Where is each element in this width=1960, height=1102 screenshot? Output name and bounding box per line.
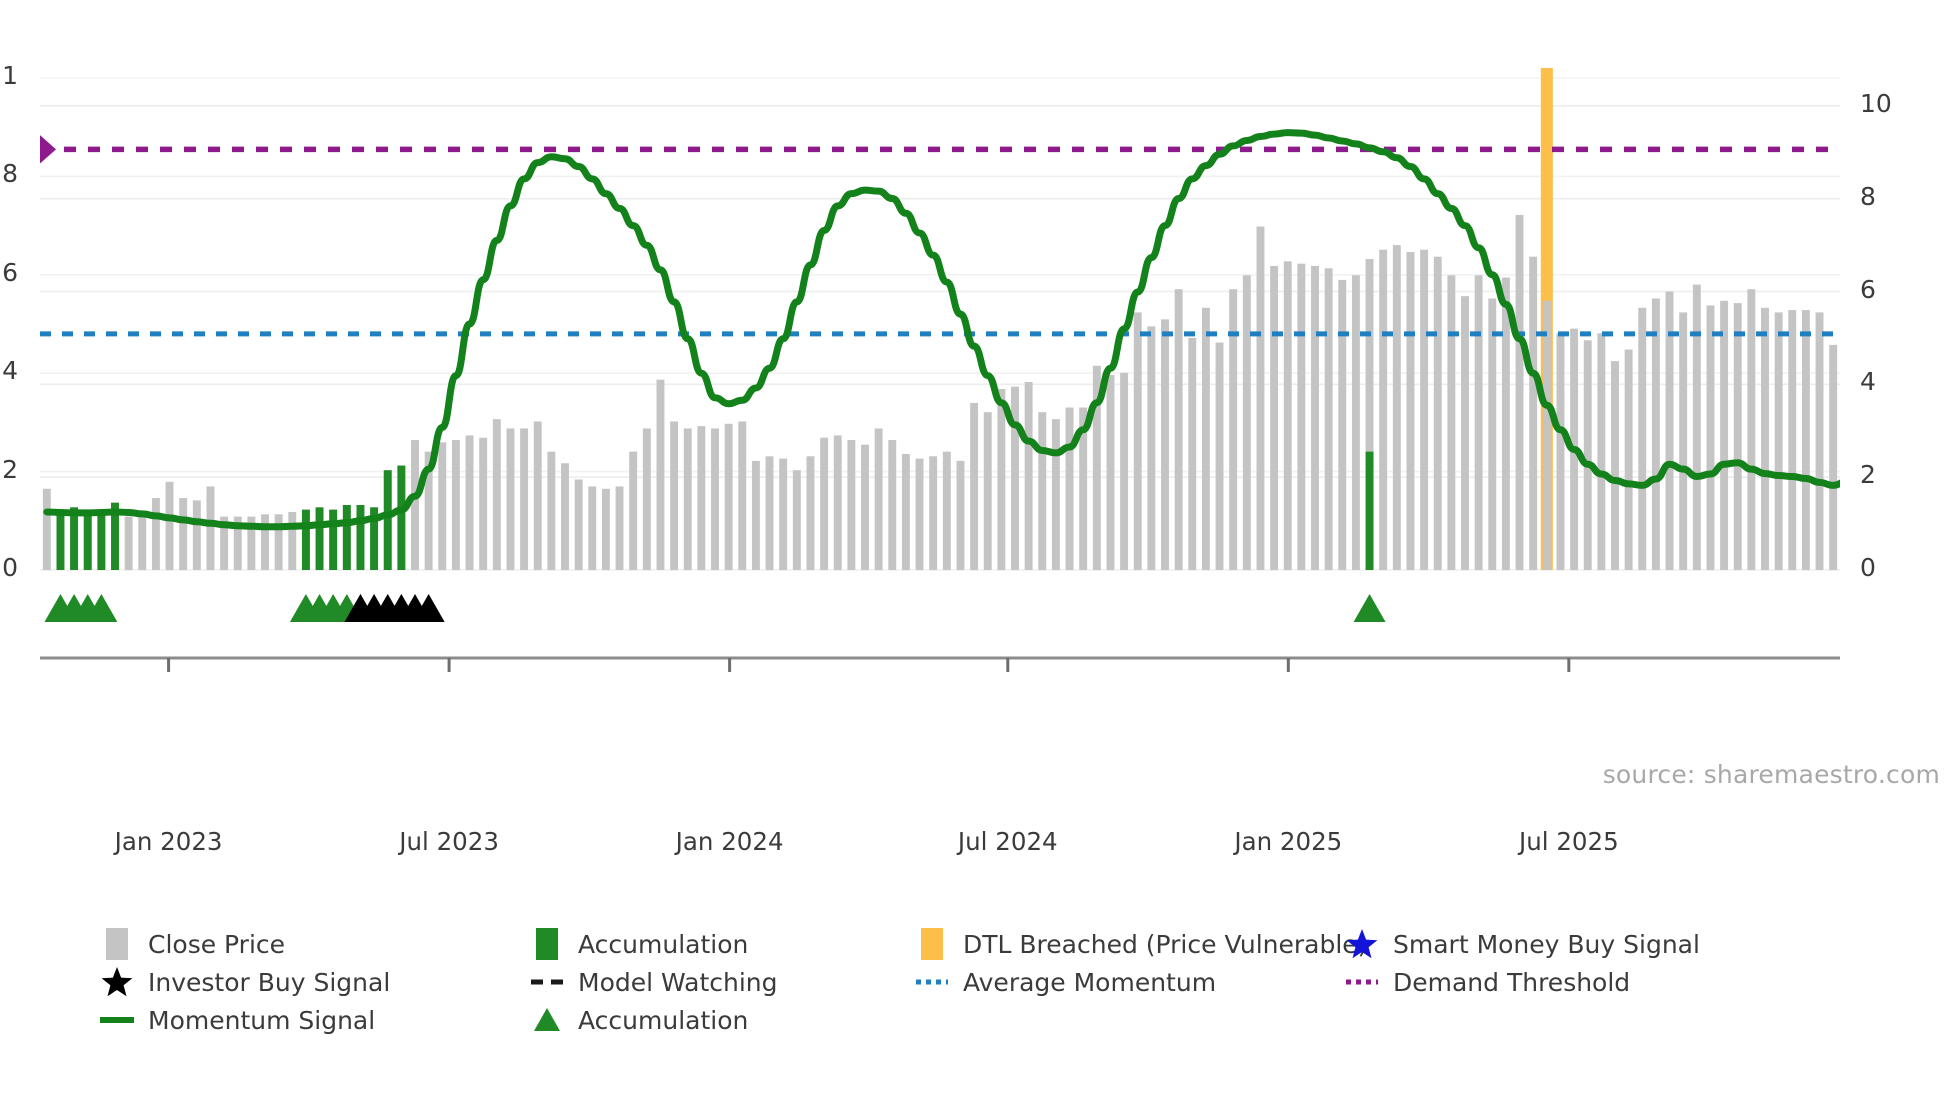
- legend-item-label: Investor Buy Signal: [148, 968, 390, 997]
- legend-item[interactable]: Demand Threshold: [1345, 963, 1775, 1001]
- accumulation-bar: [1366, 452, 1374, 570]
- close-price-bar: [138, 514, 146, 570]
- close-price-bar: [807, 456, 815, 570]
- legend-item[interactable]: DTL Breached (Price Vulnerable): [915, 925, 1345, 963]
- close-price-bar: [1447, 275, 1455, 570]
- close-price-bar: [547, 452, 555, 570]
- square-green-icon-shape: [536, 928, 558, 960]
- close-price-bar: [970, 403, 978, 570]
- close-price-bar: [575, 479, 583, 570]
- close-price-bar: [1147, 326, 1155, 570]
- close-price-bar: [957, 461, 965, 570]
- legend-item[interactable]: Average Momentum: [915, 963, 1345, 1001]
- square-gray-icon-shape: [106, 928, 128, 960]
- legend-item-label: Accumulation: [578, 1006, 748, 1035]
- close-price-bar: [1066, 408, 1074, 570]
- legend-item-label: Model Watching: [578, 968, 778, 997]
- close-price-bar: [1407, 252, 1415, 570]
- legend-item-label: Average Momentum: [963, 968, 1216, 997]
- accumulation-bar: [329, 510, 337, 570]
- dotted-line-blue-icon: [915, 965, 949, 999]
- close-price-bar: [534, 421, 542, 570]
- line-green-icon: [100, 1003, 134, 1037]
- legend-item[interactable]: Close Price: [100, 925, 530, 963]
- close-price-bar: [1788, 310, 1796, 570]
- triangle-green-icon: [530, 1003, 564, 1037]
- plot-area: [40, 60, 1840, 710]
- x-axis-tick-label: Jul 2024: [908, 827, 1108, 856]
- legend-item[interactable]: Investor Buy Signal: [100, 963, 530, 1001]
- close-price-bar: [1379, 250, 1387, 570]
- close-price-bar: [1802, 310, 1810, 570]
- legend-item[interactable]: Momentum Signal: [100, 1001, 530, 1039]
- right-axis-tick-label: 6: [1860, 275, 1920, 304]
- close-price-bar: [1202, 308, 1210, 570]
- star-black-icon: [100, 965, 134, 999]
- close-price-bar: [1420, 250, 1428, 570]
- close-price-bar: [1161, 319, 1169, 570]
- close-price-bar: [861, 445, 869, 570]
- legend-item[interactable]: Model Watching: [530, 963, 915, 1001]
- right-axis-tick-label: 4: [1860, 367, 1920, 396]
- close-price-bar: [997, 389, 1005, 570]
- x-axis-tick-label: Jan 2025: [1188, 827, 1388, 856]
- close-price-bar: [1543, 301, 1551, 570]
- close-price-bar: [507, 428, 515, 570]
- right-axis-tick-label: 2: [1860, 460, 1920, 489]
- close-price-bar: [1529, 257, 1537, 570]
- close-price-bar: [916, 459, 924, 570]
- left-axis-tick-label: 0.2: [0, 455, 18, 484]
- left-axis-tick-label: 0.4: [0, 356, 18, 385]
- close-price-bar: [125, 517, 133, 570]
- close-price-bar: [834, 435, 842, 570]
- signal-marker-row: [44, 594, 1385, 622]
- close-price-bar: [261, 514, 269, 570]
- accumulation-bar: [70, 507, 78, 570]
- diamond-purple-icon: [40, 133, 56, 165]
- dashed-line-black-icon: [530, 965, 564, 999]
- left-axis-tick-label: 0.8: [0, 159, 18, 188]
- accumulation-bar: [343, 505, 351, 570]
- legend-item-label: Smart Money Buy Signal: [1393, 930, 1700, 959]
- x-axis-tick-label: Jul 2025: [1469, 827, 1669, 856]
- close-price-bar: [1597, 333, 1605, 570]
- right-axis-tick-label: 10: [1860, 89, 1920, 118]
- close-price-bar: [847, 440, 855, 570]
- close-price-bar: [275, 514, 283, 570]
- close-price-bar: [1584, 340, 1592, 570]
- x-axis-tick-label: Jan 2024: [630, 827, 830, 856]
- close-price-bar: [1216, 343, 1224, 570]
- left-axis-tick-label: 0.6: [0, 258, 18, 287]
- close-price-bar: [616, 486, 624, 570]
- close-price-bar: [1638, 308, 1646, 570]
- close-price-bar: [670, 421, 678, 570]
- close-price-bar: [793, 470, 801, 570]
- accumulation-bar: [357, 505, 365, 570]
- close-price-bar: [1243, 275, 1251, 570]
- legend-item-label: DTL Breached (Price Vulnerable): [963, 930, 1367, 959]
- close-price-bar: [902, 454, 910, 570]
- close-price-bar: [1134, 312, 1142, 570]
- close-price-bar: [1107, 375, 1115, 570]
- star-blue-icon: [1345, 927, 1379, 961]
- close-price-bar: [1734, 303, 1742, 570]
- close-price-bar: [1625, 350, 1633, 570]
- close-price-bar: [766, 456, 774, 570]
- close-price-bar: [1038, 412, 1046, 570]
- accumulation-bar: [316, 507, 324, 570]
- close-price-bar: [1829, 345, 1837, 570]
- close-price-bar: [1257, 227, 1265, 570]
- close-price-bar: [602, 489, 610, 570]
- close-price-bar: [929, 456, 937, 570]
- dotted-line-purple-icon: [1345, 965, 1379, 999]
- close-price-bar: [779, 459, 787, 570]
- close-price-bar: [288, 512, 296, 570]
- close-price-bar: [1297, 264, 1305, 570]
- close-price-bar: [888, 440, 896, 570]
- accumulation-bar: [57, 512, 65, 570]
- close-price-bar: [1475, 275, 1483, 570]
- close-price-bar: [657, 380, 665, 570]
- close-price-bar: [1761, 308, 1769, 570]
- close-price-bar: [520, 428, 528, 570]
- close-price-bar: [1270, 266, 1278, 570]
- close-price-bar: [684, 428, 692, 570]
- close-price-bar: [1488, 298, 1496, 570]
- triangle-green-icon: [1354, 594, 1386, 622]
- legend-item-label: Momentum Signal: [148, 1006, 375, 1035]
- accumulation-bar: [84, 510, 92, 570]
- close-price-bar: [1188, 338, 1196, 570]
- close-price-bar: [1720, 301, 1728, 570]
- legend-item[interactable]: Smart Money Buy Signal: [1345, 925, 1775, 963]
- close-price-bar: [1816, 312, 1824, 570]
- close-price-bar: [1461, 296, 1469, 570]
- close-price-bar: [1338, 280, 1346, 570]
- square-green-icon: [530, 927, 564, 961]
- close-price-bar: [820, 438, 828, 570]
- x-axis-tick-label: Jan 2023: [69, 827, 269, 856]
- close-price-bar: [43, 489, 51, 570]
- close-price-bar: [1325, 268, 1333, 570]
- close-price-bar: [588, 486, 596, 570]
- close-price-bar: [1652, 298, 1660, 570]
- close-price-bar: [411, 440, 419, 570]
- close-price-bar: [452, 440, 460, 570]
- close-price-bar: [1693, 285, 1701, 570]
- square-orange-icon-shape: [921, 928, 943, 960]
- close-price-bar: [1311, 266, 1319, 570]
- close-price-bar: [561, 463, 569, 570]
- close-price-bar: [1707, 305, 1715, 570]
- legend-item-label: Close Price: [148, 930, 285, 959]
- legend-item[interactable]: Accumulation: [530, 925, 915, 963]
- close-price-bar: [193, 500, 201, 570]
- close-price-bar: [466, 435, 474, 570]
- close-price-bar: [1284, 261, 1292, 570]
- accumulation-bar: [397, 466, 405, 570]
- accumulation-bar: [302, 510, 310, 570]
- close-price-bar: [1352, 275, 1360, 570]
- square-orange-icon: [915, 927, 949, 961]
- close-price-bar: [1025, 382, 1033, 570]
- close-price-bar: [179, 498, 187, 570]
- close-price-bar: [1747, 289, 1755, 570]
- close-price-bar: [152, 498, 160, 570]
- close-price-bar: [752, 461, 760, 570]
- close-price-bar: [1393, 245, 1401, 570]
- close-price-bar: [479, 438, 487, 570]
- chart-legend: Close PriceAccumulationDTL Breached (Pri…: [100, 925, 1940, 1039]
- close-price-bar: [166, 482, 174, 570]
- legend-item[interactable]: Accumulation: [530, 1001, 915, 1039]
- close-price-bar: [1611, 361, 1619, 570]
- close-price-bar: [1175, 289, 1183, 570]
- close-price-bar: [629, 452, 637, 570]
- close-price-bar: [1516, 215, 1524, 570]
- close-price-bar: [1229, 289, 1237, 570]
- right-axis-tick-label: 0: [1860, 553, 1920, 582]
- chart-root: 00.20.40.60.81 0246810 Jan 2023Jul 2023J…: [0, 0, 1960, 1102]
- accumulation-bar: [97, 514, 105, 570]
- close-price-bar: [1434, 257, 1442, 570]
- accumulation-bar: [384, 470, 392, 570]
- close-price-bar: [1679, 312, 1687, 570]
- legend-item-label: Accumulation: [578, 930, 748, 959]
- close-price-bar: [711, 428, 719, 570]
- source-note: source: sharemaestro.com: [1603, 760, 1940, 789]
- x-axis-ticks: [169, 658, 1569, 672]
- left-axis-tick-label: 1: [0, 61, 18, 90]
- square-gray-icon: [100, 927, 134, 961]
- legend-item-label: Demand Threshold: [1393, 968, 1630, 997]
- close-price-bar: [1502, 278, 1510, 570]
- close-price-bar: [493, 419, 501, 570]
- close-price-bar: [643, 428, 651, 570]
- close-price-bar: [1775, 312, 1783, 570]
- close-price-bar: [943, 452, 951, 570]
- close-price-bar: [1011, 387, 1019, 570]
- close-price-bar: [1557, 333, 1565, 570]
- close-price-bar: [438, 442, 446, 570]
- right-axis-tick-label: 8: [1860, 182, 1920, 211]
- x-axis-tick-label: Jul 2023: [349, 827, 549, 856]
- close-price-bar: [1120, 373, 1128, 570]
- line-green-shape: [100, 1017, 134, 1023]
- close-price-bar: [875, 428, 883, 570]
- diamond-purple-icon: [40, 133, 56, 165]
- left-axis-tick-label: 0: [0, 553, 18, 582]
- close-price-bar: [738, 421, 746, 570]
- close-price-bar: [1052, 419, 1060, 570]
- close-price-bar: [725, 424, 733, 570]
- close-price-bar: [207, 486, 215, 570]
- close-price-bar: [697, 426, 705, 570]
- chart-canvas: [40, 60, 1840, 710]
- close-price-bar: [984, 412, 992, 570]
